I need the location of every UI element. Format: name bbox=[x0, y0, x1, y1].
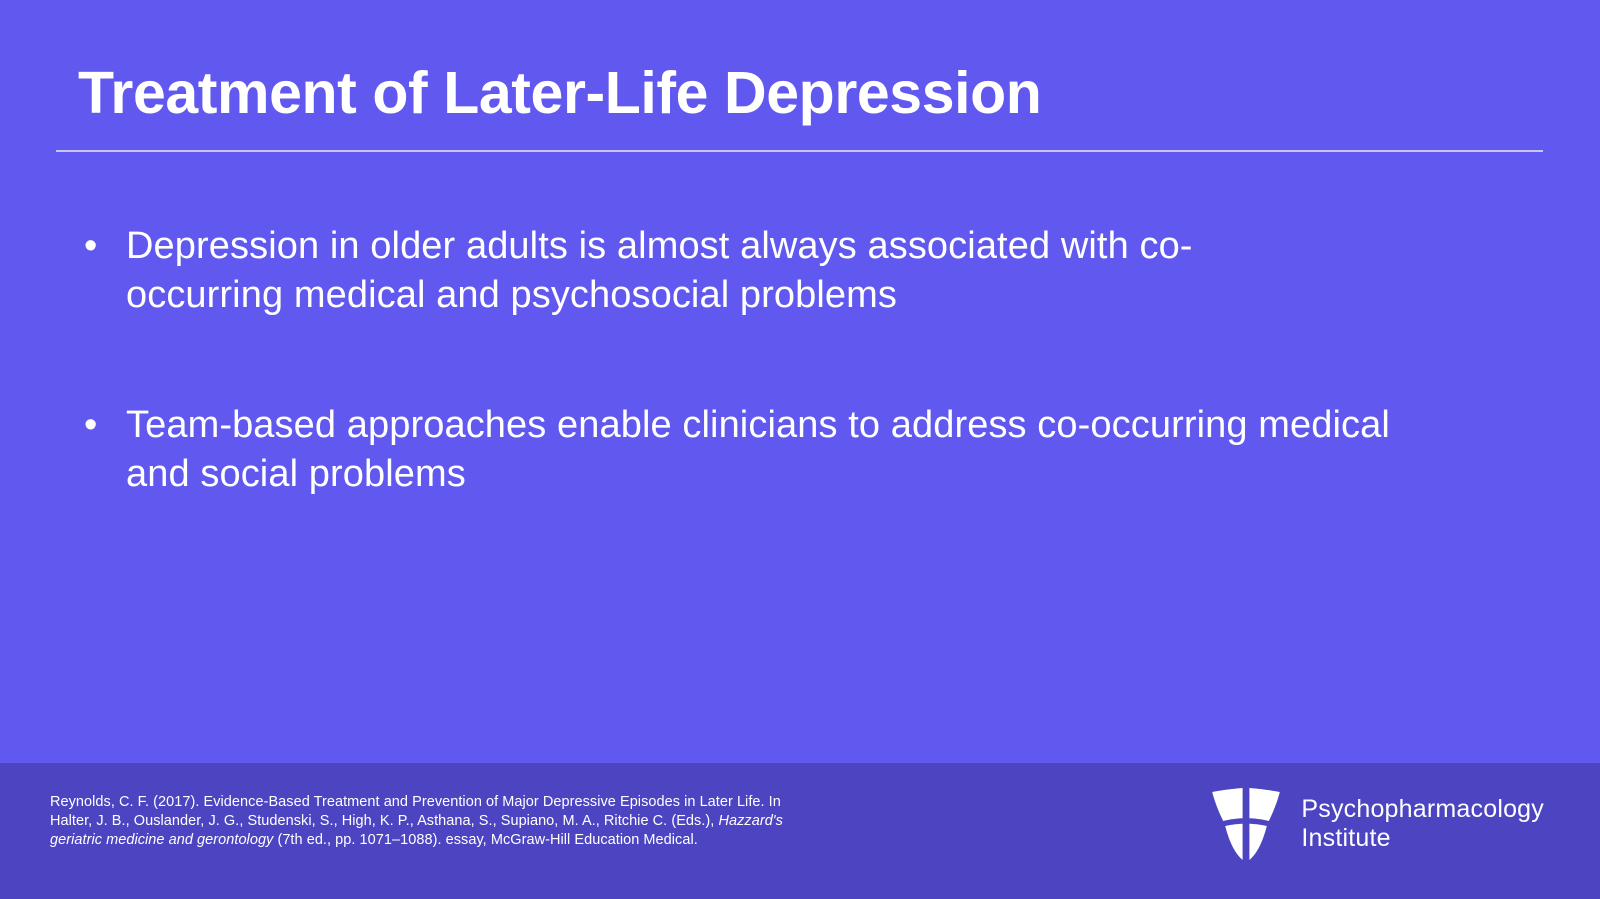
bullet-point-icon: • bbox=[78, 401, 126, 450]
bullet-point-icon: • bbox=[78, 222, 126, 271]
page-title: Treatment of Later-Life Depression bbox=[78, 62, 1548, 126]
brand-name-line-1: Psychopharmacology bbox=[1301, 795, 1544, 823]
list-item: • Depression in older adults is almost a… bbox=[78, 222, 1538, 321]
title-divider bbox=[56, 150, 1543, 152]
citation-part-2: (7th ed., pp. 1071–1088). essay, McGraw-… bbox=[273, 832, 697, 848]
footer-band: Reynolds, C. F. (2017). Evidence-Based T… bbox=[0, 763, 1600, 899]
bullet-list: • Depression in older adults is almost a… bbox=[78, 222, 1538, 500]
brand-logo: Psychopharmacology Institute bbox=[1209, 783, 1544, 865]
title-block: Treatment of Later-Life Depression bbox=[78, 62, 1548, 126]
brand-name: Psychopharmacology Institute bbox=[1301, 795, 1544, 854]
shield-quadrant-icon bbox=[1209, 783, 1283, 865]
citation-text: Reynolds, C. F. (2017). Evidence-Based T… bbox=[50, 793, 810, 850]
list-item: • Team-based approaches enable clinician… bbox=[78, 401, 1538, 500]
bullet-text: Depression in older adults is almost alw… bbox=[126, 222, 1306, 321]
citation-part-1: Reynolds, C. F. (2017). Evidence-Based T… bbox=[50, 794, 781, 829]
bullet-text: Team-based approaches enable clinicians … bbox=[126, 401, 1436, 500]
presentation-slide: Treatment of Later-Life Depression • Dep… bbox=[0, 0, 1600, 899]
brand-name-line-2: Institute bbox=[1301, 824, 1544, 854]
